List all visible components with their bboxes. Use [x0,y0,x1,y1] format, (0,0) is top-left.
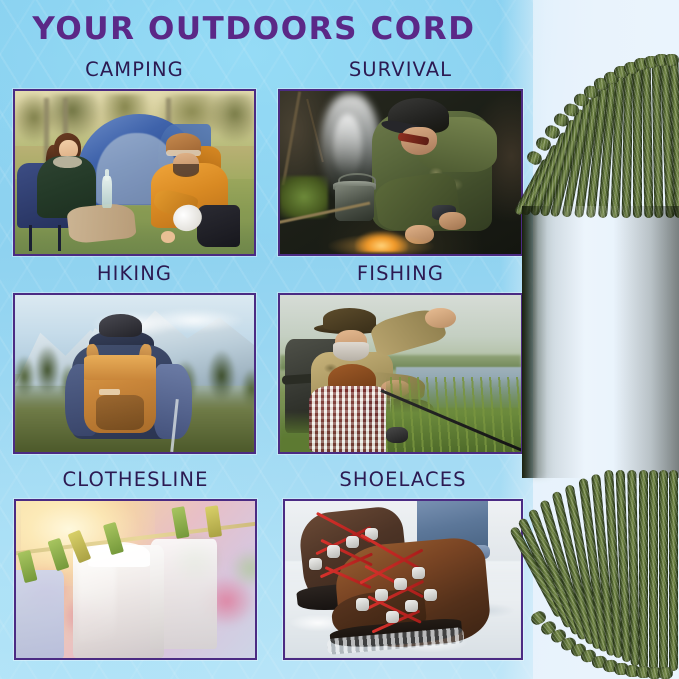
fishing-photo [278,293,523,454]
paracord-bundle [522,0,679,679]
clothesline-photo [14,499,257,660]
feature-grid-panel: YOUR OUTDOORS CORD CAMPING [0,0,533,679]
feature-card-survival[interactable]: SURVIVAL [278,60,523,256]
paracord-wound-coil [522,206,679,478]
feature-card-camping[interactable]: CAMPING [13,60,256,256]
survival-photo [278,89,523,256]
feature-card-fishing[interactable]: FISHING [278,264,523,454]
camping-photo [13,89,256,256]
card-label-clothesline: CLOTHESLINE [14,470,257,490]
feature-card-clothesline[interactable]: CLOTHESLINE [14,470,257,660]
feature-card-hiking[interactable]: HIKING [13,264,256,454]
page-title: YOUR OUTDOORS CORD [0,14,508,45]
card-label-hiking: HIKING [13,264,256,284]
product-infographic: YOUR OUTDOORS CORD CAMPING [0,0,679,679]
card-label-survival: SURVIVAL [278,60,523,80]
card-label-shoelaces: SHOELACES [283,470,523,490]
shoelaces-photo [283,499,523,660]
card-label-camping: CAMPING [13,60,256,80]
hiking-photo [13,293,256,454]
card-label-fishing: FISHING [278,264,523,284]
paracord-top-loops [522,38,679,216]
feature-card-shoelaces[interactable]: SHOELACES [283,470,523,660]
paracord-bottom-loops [522,470,679,679]
